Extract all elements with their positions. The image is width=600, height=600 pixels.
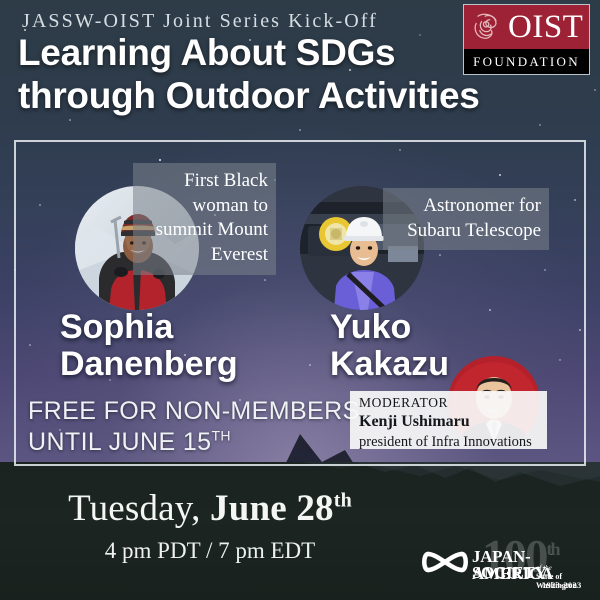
jassw-line-3: of the xyxy=(536,564,552,572)
speaker-1-first-name: Sophia xyxy=(60,308,173,346)
oist-logo-red-block: OIST xyxy=(464,5,589,49)
moderator-name: Kenji Ushimaru xyxy=(359,412,541,433)
event-date-ordinal: th xyxy=(334,490,352,512)
oist-coral-icon xyxy=(469,9,505,45)
title-line-1: Learning About SDGs xyxy=(18,32,395,73)
speaker-2-caption: Astronomer for Subaru Telescope xyxy=(383,188,549,250)
event-time: 4 pm PDT / 7 pm EDT xyxy=(0,538,420,564)
promo-line-2: UNTIL JUNE 15TH xyxy=(28,427,368,458)
promo-text: FREE FOR NON-MEMBERS UNTIL JUNE 15TH xyxy=(28,396,368,459)
event-poster: JASSW-OIST Joint Series Kick-Off Learnin… xyxy=(0,0,600,600)
oist-wordmark: OIST xyxy=(508,7,583,47)
jassw-knot-icon xyxy=(422,547,468,577)
event-date-text: June 28 xyxy=(210,488,334,529)
jassw-line-5: 1923-2023 xyxy=(542,581,582,590)
promo-line-1: FREE FOR NON-MEMBERS xyxy=(28,397,360,425)
event-date: Tuesday, June 28th xyxy=(0,487,420,530)
oist-foundation-logo: OIST FOUNDATION xyxy=(463,4,590,75)
moderator-role: president of Infra Innovations xyxy=(359,433,541,452)
jassw-logo: 100th JAPAN-AMERICA SOCIETY of the State… xyxy=(420,527,590,589)
title-line-2: through Outdoor Activities xyxy=(18,75,578,118)
promo-line-2-text: UNTIL JUNE 15 xyxy=(28,428,211,456)
oist-foundation-word: FOUNDATION xyxy=(464,49,589,74)
speaker-1-name: Sophia Danenberg xyxy=(60,310,300,381)
speaker-1-caption: First Black woman to summit Mount Everes… xyxy=(133,163,276,275)
speaker-1-last-name: Danenberg xyxy=(60,347,300,381)
event-day-prefix: Tuesday, xyxy=(68,488,201,529)
moderator-label: MODERATOR xyxy=(359,395,541,412)
moderator-info-box: MODERATOR Kenji Ushimaru president of In… xyxy=(350,391,547,449)
promo-ordinal-suffix: TH xyxy=(211,428,230,444)
speaker-2-first-name: Yuko xyxy=(330,308,411,346)
kicker-text: JASSW-OIST Joint Series Kick-Off xyxy=(22,10,462,33)
